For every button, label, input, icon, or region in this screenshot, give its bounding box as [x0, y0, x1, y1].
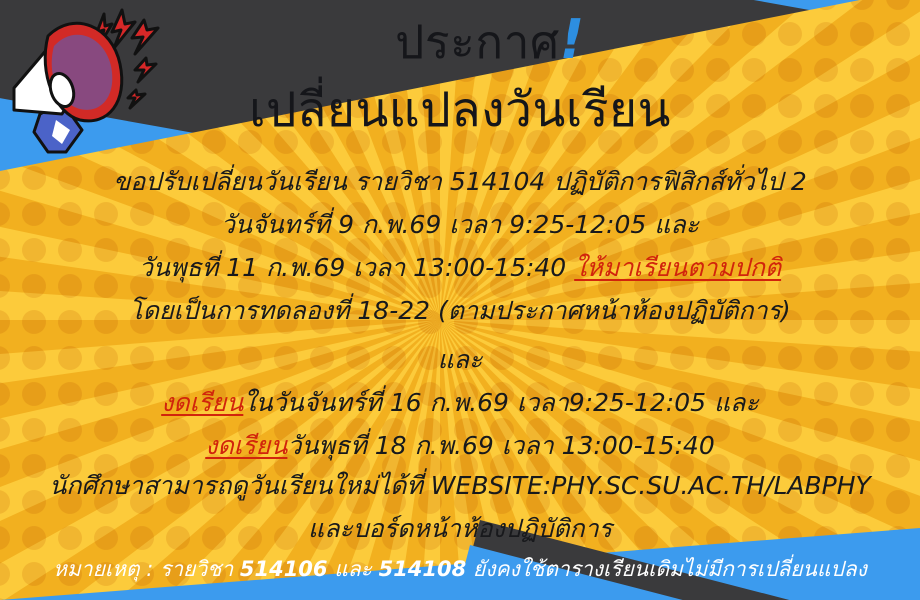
highlighted-cancel-text: งดเรียน: [205, 431, 287, 460]
poster-text-content: ประกาศ! เปลี่ยนแปลงวันเรียน ขอปรับเปลี่ย…: [0, 0, 920, 600]
note-suffix: ยังคงใช้ตารางเรียนเดิมไม่มีการเปลี่ยนแปล…: [466, 557, 867, 581]
note-prefix: หมายเหตุ : รายวิชา: [53, 557, 240, 581]
body-line-text: วันพุธที่ 18 ก.พ.69 เวลา 13:00-15:40: [287, 431, 714, 460]
body-line-text: วันพุธที่ 11 ก.พ.69 เวลา 13:00-15:40: [139, 253, 574, 282]
announcement-poster: ประกาศ! เปลี่ยนแปลงวันเรียน ขอปรับเปลี่ย…: [0, 0, 920, 600]
body-line: วันพุธที่ 11 ก.พ.69 เวลา 13:00-15:40 ให้…: [0, 248, 920, 288]
body-line: โดยเป็นการทดลองที่ 18-22 (ตามประกาศหน้าห…: [0, 291, 920, 331]
body-line: วันจันทร์ที่ 9 ก.พ.69 เวลา 9:25-12:05 แล…: [0, 205, 920, 245]
page-title: ประกาศ!: [60, 6, 920, 79]
body-line-text: ในวันจันทร์ที่ 16 ก.พ.69 เวลา9:25-12:05 …: [243, 388, 758, 417]
title-main-text: ประกาศ: [395, 15, 560, 69]
body-line: งดเรียนวันพุธที่ 18 ก.พ.69 เวลา 13:00-15…: [0, 426, 920, 466]
body-line-text: ขอปรับเปลี่ยนวันเรียน รายวิชา 514104 ปฏิ…: [113, 167, 807, 196]
body-line-text: และบอร์ดหน้าห้องปฏิบัติการ: [308, 514, 612, 543]
body-line-text: นักศึกษาสามารถดูวันเรียนใหม่ได้ที่ WEBSI…: [49, 471, 871, 500]
body-line-text: และ: [438, 345, 483, 374]
footer-note: หมายเหตุ : รายวิชา 514106 และ 514108 ยัง…: [0, 553, 920, 586]
body-line: ขอปรับเปลี่ยนวันเรียน รายวิชา 514104 ปฏิ…: [0, 162, 920, 202]
highlighted-normal-text: ให้มาเรียนตามปกติ: [574, 253, 781, 282]
note-middle: และ: [328, 557, 379, 581]
exclamation-mark: !: [560, 8, 585, 71]
body-line-text: โดยเป็นการทดลองที่ 18-22 (ตามประกาศหน้าห…: [129, 296, 790, 325]
page-subtitle: เปลี่ยนแปลงวันเรียน: [0, 72, 920, 148]
note-course-code-1: 514106: [240, 557, 328, 581]
body-line: นักศึกษาสามารถดูวันเรียนใหม่ได้ที่ WEBSI…: [0, 466, 920, 506]
highlighted-cancel-text: งดเรียน: [161, 388, 243, 417]
body-line: และ: [0, 340, 920, 380]
body-line-text: วันจันทร์ที่ 9 ก.พ.69 เวลา 9:25-12:05 แล…: [221, 210, 699, 239]
body-line: งดเรียนในวันจันทร์ที่ 16 ก.พ.69 เวลา9:25…: [0, 383, 920, 423]
body-line: และบอร์ดหน้าห้องปฏิบัติการ: [0, 509, 920, 549]
note-course-code-2: 514108: [379, 557, 467, 581]
